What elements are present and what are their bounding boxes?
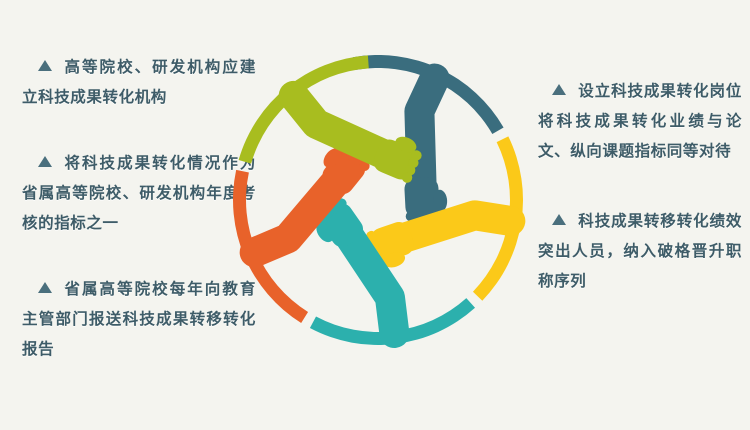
hands-circle-svg (228, 40, 528, 360)
bullet-item-label: 将科技成果转化情况作为省属高等院校、研发机构年度考核的指标之一 (22, 154, 256, 232)
triangle-bullet-icon (38, 156, 52, 167)
bullet-item-label: 省属高等院校每年向教育主管部门报送科技成果转移转化报告 (22, 280, 256, 358)
bullet-item-left-3: 省属高等院校每年向教育主管部门报送科技成果转移转化报告 (22, 274, 256, 364)
bullet-item-right-1: 设立科技成果转化岗位将科技成果转化业绩与论文、纵向课题指标同等对待 (538, 76, 742, 166)
triangle-bullet-icon (38, 60, 52, 71)
bullet-item-label: 科技成果转移转化绩效突出人员，纳入破格晋升职称序列 (538, 212, 742, 290)
triangle-bullet-icon (552, 84, 566, 95)
bullet-item-right-2: 科技成果转移转化绩效突出人员，纳入破格晋升职称序列 (538, 206, 742, 296)
bullet-item-label: 设立科技成果转化岗位将科技成果转化业绩与论文、纵向课题指标同等对待 (538, 82, 742, 160)
joined-hands-circle-illustration (228, 40, 528, 360)
poster-canvas: 高等院校、研发机构应建立科技成果转化机构 将科技成果转化情况作为省属高等院校、研… (0, 0, 750, 430)
arm-group (255, 79, 511, 333)
bullet-item-left-2: 将科技成果转化情况作为省属高等院校、研发机构年度考核的指标之一 (22, 148, 256, 238)
left-bullet-column: 高等院校、研发机构应建立科技成果转化机构 将科技成果转化情况作为省属高等院校、研… (0, 0, 262, 364)
triangle-bullet-icon (38, 282, 52, 293)
bullet-item-label: 高等院校、研发机构应建立科技成果转化机构 (22, 58, 256, 106)
bullet-item-left-1: 高等院校、研发机构应建立科技成果转化机构 (22, 52, 256, 112)
right-bullet-column: 设立科技成果转化岗位将科技成果转化业绩与论文、纵向课题指标同等对待 科技成果转移… (530, 0, 750, 296)
triangle-bullet-icon (552, 214, 566, 225)
arm-yellow (365, 215, 511, 272)
